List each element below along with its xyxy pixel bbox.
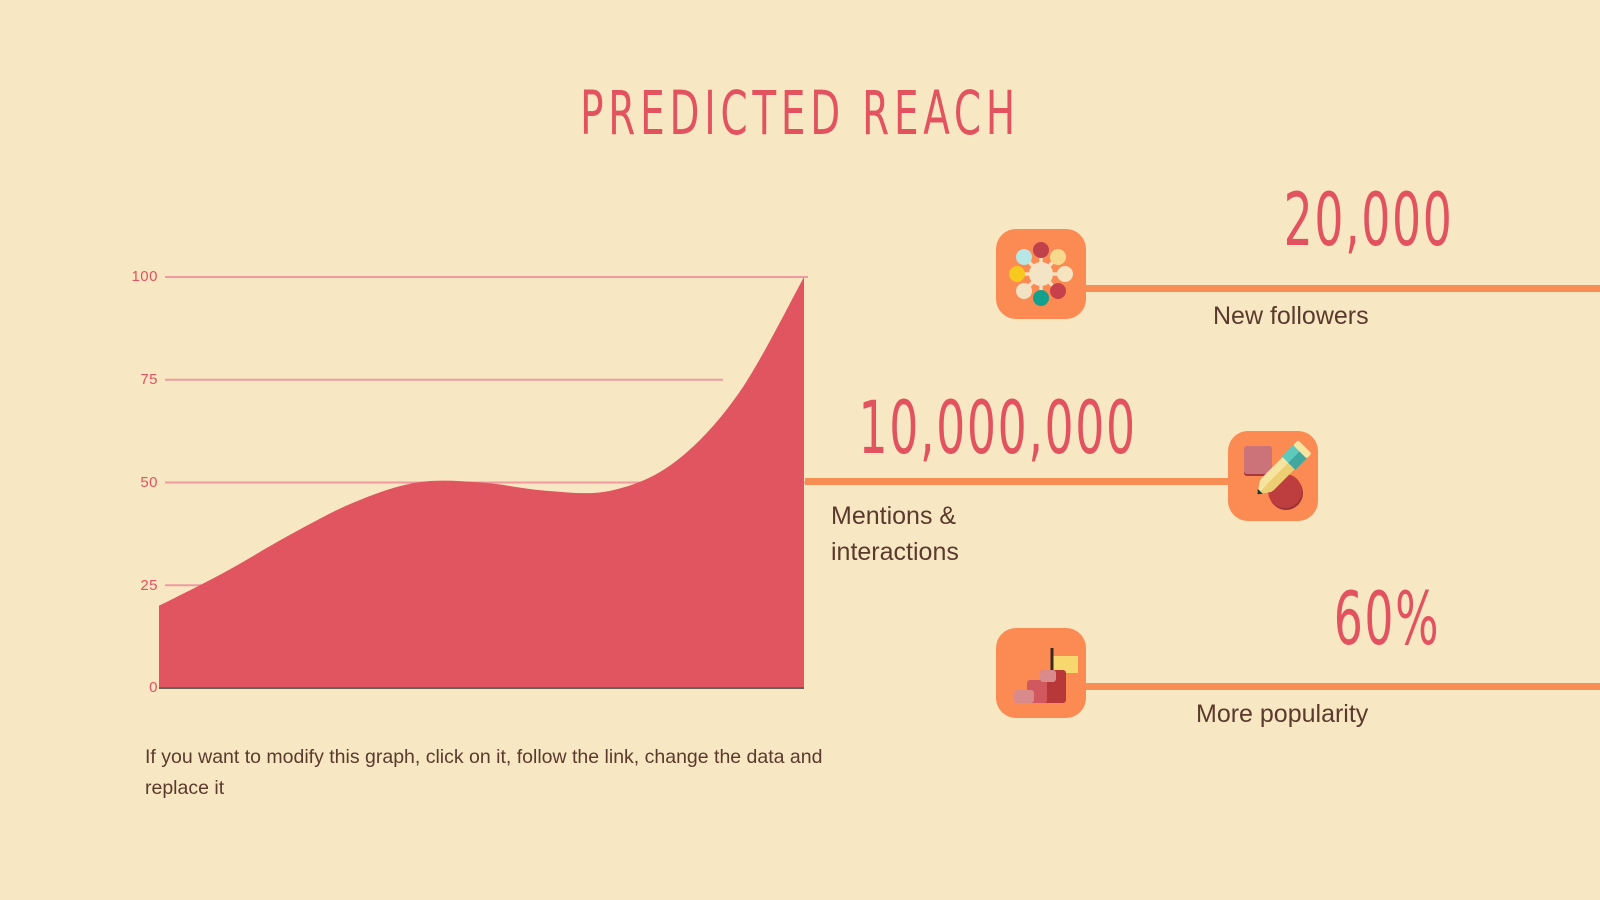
stat-label-2: Mentions & interactions [831, 498, 959, 570]
y-tick-100: 100 [118, 268, 158, 285]
y-tick-50: 50 [118, 474, 158, 491]
y-tick-0: 0 [118, 679, 158, 696]
stat-connector-line-2 [805, 478, 1230, 485]
slide-canvas: PREDICTED REACH 100 75 50 25 0 If you wa… [0, 0, 1600, 900]
stairs-flag-icon [996, 628, 1086, 718]
y-tick-75: 75 [118, 371, 158, 388]
stat-icon-tile-2[interactable] [1228, 431, 1318, 521]
chart-caption: If you want to modify this graph, click … [145, 742, 845, 804]
y-tick-25: 25 [118, 577, 158, 594]
area-chart[interactable]: 100 75 50 25 0 [118, 258, 838, 698]
stat-icon-tile-1[interactable] [996, 229, 1086, 319]
chart-plot-area[interactable] [118, 258, 838, 698]
pencil-shapes-icon [1228, 431, 1318, 521]
stat-number-1: 20,000 [1284, 176, 1454, 262]
stat-number-2: 10,000,000 [859, 384, 1137, 470]
stat-connector-line-1 [1086, 285, 1600, 292]
stat-icon-tile-3[interactable] [996, 628, 1086, 718]
stat-label-3: More popularity [1196, 696, 1368, 732]
page-title: PREDICTED REACH [160, 78, 1440, 149]
stat-connector-line-3 [1086, 683, 1600, 690]
stat-number-3: 60% [1334, 575, 1441, 661]
stat-label-1: New followers [1213, 298, 1369, 334]
network-hub-icon [996, 229, 1086, 319]
